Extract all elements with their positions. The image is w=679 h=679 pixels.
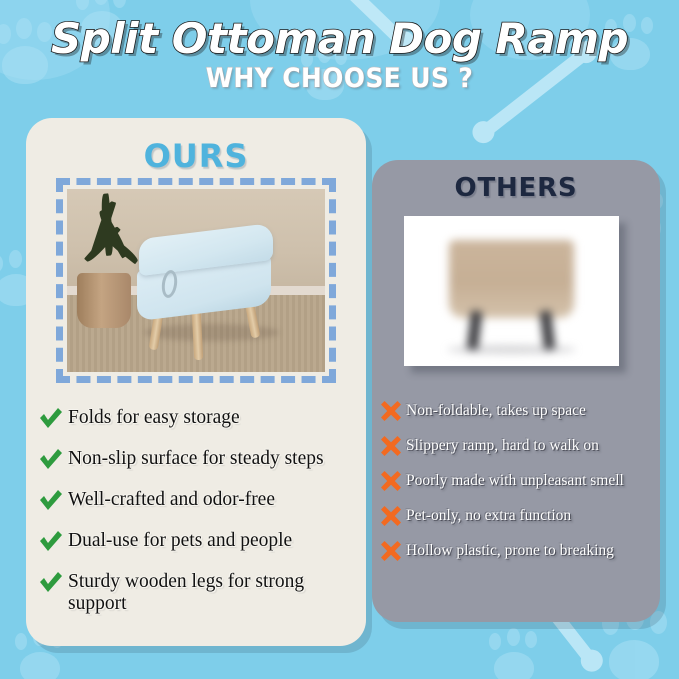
check-icon [38, 488, 64, 512]
list-item: Hollow plastic, prone to breaking [380, 540, 654, 562]
page-subtitle: WHY CHOOSE US ? [27, 63, 652, 94]
cross-icon [380, 540, 402, 562]
list-item-label: Non-foldable, takes up space [406, 400, 586, 419]
list-item-label: Dual-use for pets and people [68, 529, 292, 552]
page-title: Split Ottoman Dog Ramp [0, 0, 679, 61]
list-item-label: Non-slip surface for steady steps [68, 447, 324, 470]
list-item-label: Sturdy wooden legs for strong support [68, 570, 338, 615]
list-item: Folds for easy storage [38, 406, 352, 430]
list-item: Non-foldable, takes up space [380, 400, 654, 422]
paw-print-icon [488, 628, 544, 679]
check-icon [38, 529, 64, 553]
list-item: Well-crafted and odor-free [38, 488, 352, 512]
check-icon [38, 406, 64, 430]
list-item: Non-slip surface for steady steps [38, 447, 352, 471]
ours-product-image [67, 189, 325, 372]
cross-icon [380, 435, 402, 457]
poster-header: Split Ottoman Dog Ramp WHY CHOOSE US ? [0, 0, 679, 94]
others-photo-frame [404, 216, 619, 366]
list-item-label: Hollow plastic, prone to breaking [406, 540, 614, 559]
list-item: Sturdy wooden legs for strong support [38, 570, 352, 615]
cross-icon [380, 505, 402, 527]
ours-panel: OURS [26, 118, 366, 646]
list-item: Pet-only, no extra function [380, 505, 654, 527]
list-item: Dual-use for pets and people [38, 529, 352, 553]
list-item-label: Pet-only, no extra function [406, 505, 571, 524]
check-icon [38, 447, 64, 471]
ours-heading: OURS [26, 118, 366, 175]
ours-benefits-list: Folds for easy storage Non-slip surface … [26, 406, 366, 632]
others-heading: OTHERS [372, 160, 660, 203]
check-icon [38, 570, 64, 594]
others-product-image [404, 216, 619, 366]
comparison-poster: Split Ottoman Dog Ramp WHY CHOOSE US ? O… [0, 0, 679, 679]
list-item-label: Poorly made with unpleasant smell [406, 470, 624, 489]
others-panel: OTHERS Non-foldable, takes up space Sl [372, 160, 660, 622]
list-item: Poorly made with unpleasant smell [380, 470, 654, 492]
cross-icon [380, 470, 402, 492]
list-item-label: Folds for easy storage [68, 406, 240, 429]
cross-icon [380, 400, 402, 422]
others-drawbacks-list: Non-foldable, takes up space Slippery ra… [372, 400, 660, 575]
list-item-label: Well-crafted and odor-free [68, 488, 275, 511]
ours-photo-frame [56, 178, 336, 383]
list-item-label: Slippery ramp, hard to walk on [406, 435, 599, 454]
list-item: Slippery ramp, hard to walk on [380, 435, 654, 457]
